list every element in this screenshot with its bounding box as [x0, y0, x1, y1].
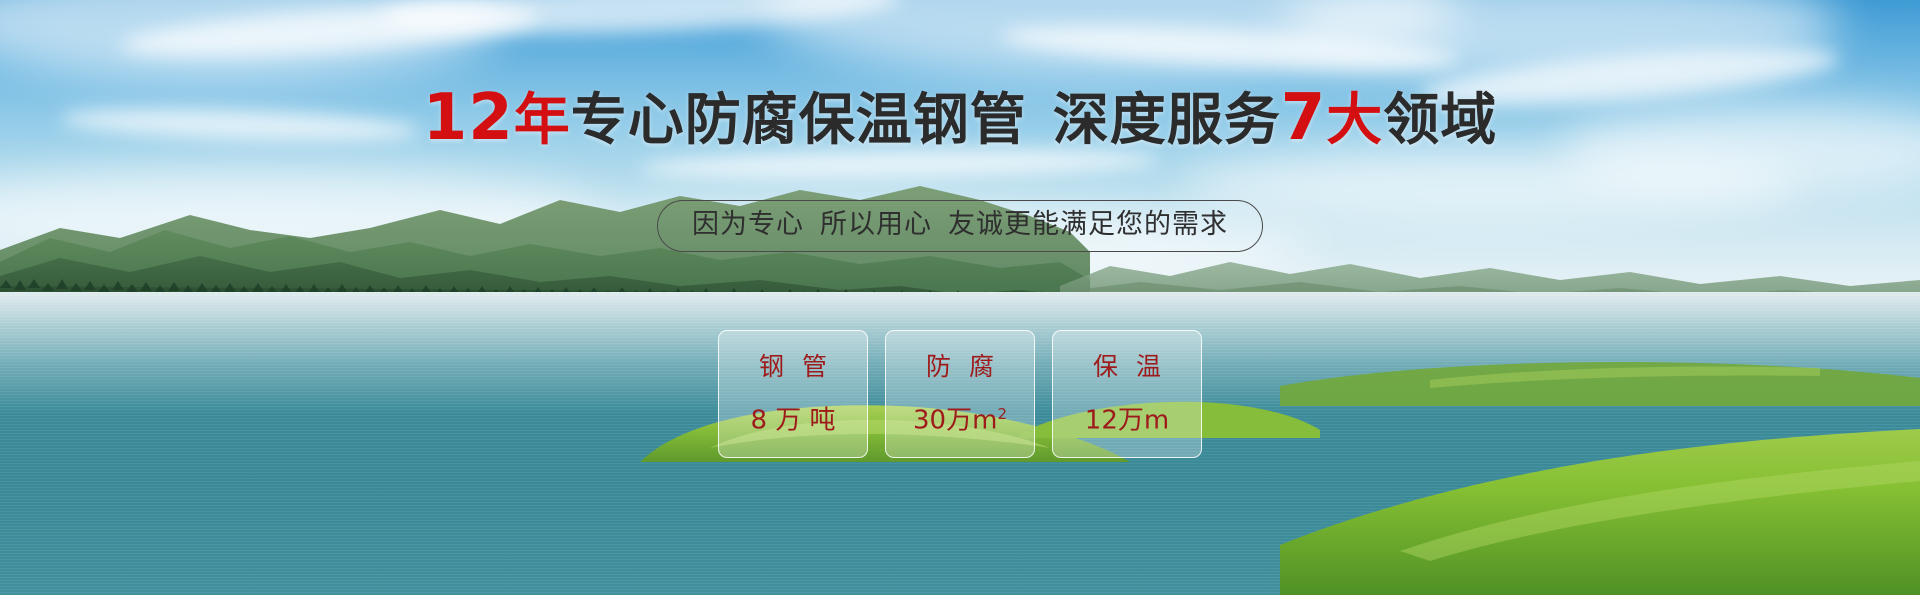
headline-service-text: 深度服务	[1053, 88, 1281, 153]
stat-card-value-text: 30万m	[913, 406, 997, 436]
stat-card-label: 钢 管	[754, 352, 832, 382]
subtitle-part-3: 友诚更能满足您的需求	[948, 209, 1228, 240]
stat-cards: 钢 管 8 万 吨 防 腐 30万m2 保 温 12万m	[0, 330, 1920, 458]
subtitle-part-2: 所以用心	[820, 209, 932, 240]
stat-card-value: 12万m	[1085, 399, 1169, 436]
subtitle-pill: 因为专心所以用心友诚更能满足您的需求	[657, 200, 1263, 252]
stat-card-anticorrosion[interactable]: 防 腐 30万m2	[885, 330, 1035, 458]
headline-years-number: 12	[423, 81, 514, 155]
headline-main-text: 专心防腐保温钢管	[571, 88, 1027, 153]
headline: 12年专心防腐保温钢管深度服务7大领域	[0, 88, 1920, 151]
stat-card-value: 8 万 吨	[750, 399, 835, 436]
stat-card-insulation[interactable]: 保 温 12万m	[1052, 330, 1202, 458]
headline-fields-number: 7	[1281, 81, 1327, 155]
subtitle-container: 因为专心所以用心友诚更能满足您的需求	[0, 200, 1920, 252]
headline-years-unit: 年	[514, 88, 571, 153]
headline-fields-text: 领域	[1383, 88, 1497, 153]
stat-card-label: 防 腐	[921, 352, 999, 382]
headline-fields-unit: 大	[1326, 88, 1383, 153]
stat-card-value-text: 12万m	[1085, 406, 1169, 436]
stat-card-label: 保 温	[1088, 352, 1166, 382]
subtitle-part-1: 因为专心	[692, 209, 804, 240]
hero-banner: 12年专心防腐保温钢管深度服务7大领域 因为专心所以用心友诚更能满足您的需求 钢…	[0, 0, 1920, 595]
stat-card-value-text: 8 万 吨	[750, 406, 835, 436]
stat-card-steel-pipe[interactable]: 钢 管 8 万 吨	[718, 330, 868, 458]
stat-card-value-sup: 2	[997, 405, 1007, 423]
stat-card-value: 30万m2	[913, 399, 1007, 436]
